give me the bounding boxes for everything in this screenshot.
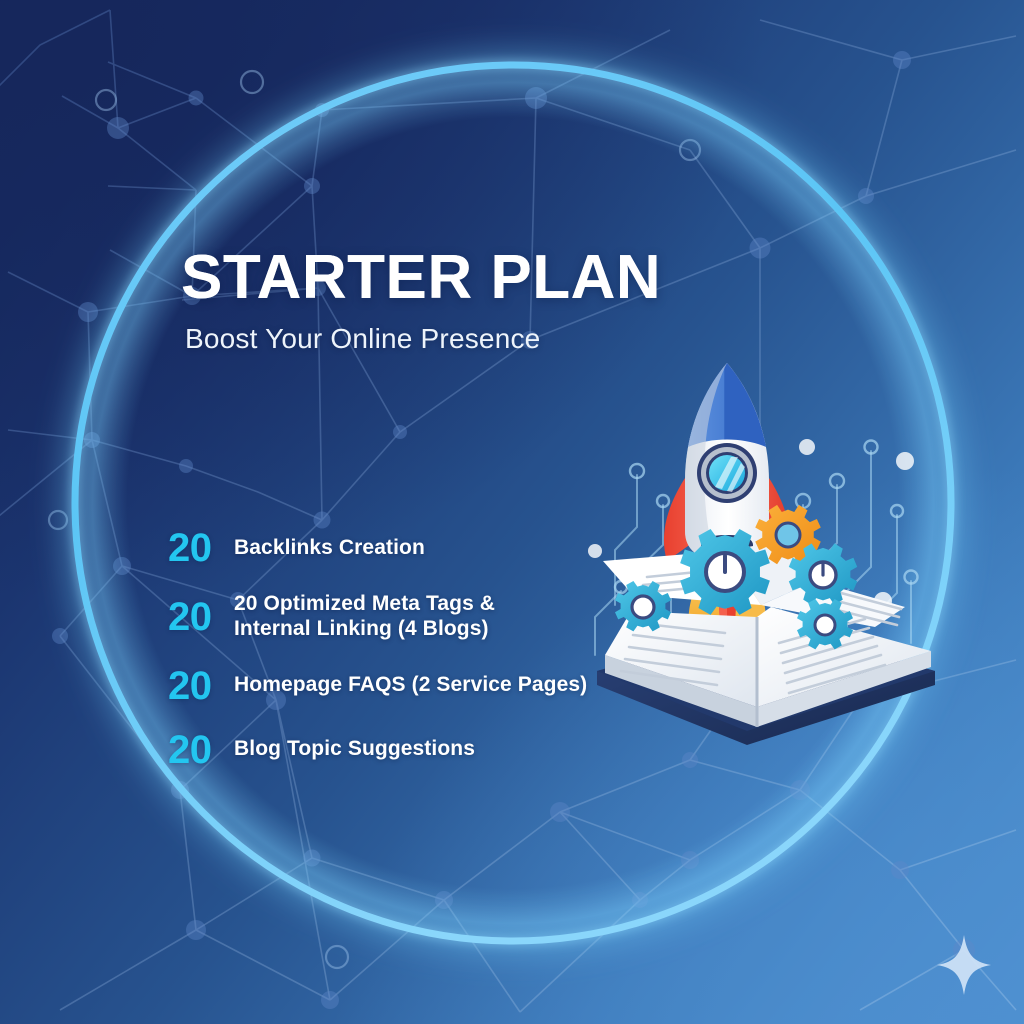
feature-count: 20: [168, 666, 234, 706]
feature-count: 20: [168, 528, 234, 568]
feature-label-line1: Backlinks Creation: [234, 536, 425, 559]
feature-label: Homepage FAQS (2 Service Pages): [234, 673, 587, 698]
page-title: STARTER PLAN: [181, 247, 661, 309]
feature-label-line1: Blog Topic Suggestions: [234, 737, 475, 760]
sparkle-star-icon: [936, 934, 992, 996]
feature-count: 20: [168, 730, 234, 770]
feature-count: 20: [168, 597, 234, 637]
rocket-book-illustration: [575, 355, 945, 775]
feature-label-line1: Homepage FAQS (2 Service Pages): [234, 673, 587, 696]
feature-label: Blog Topic Suggestions: [234, 737, 475, 762]
feature-label: 20 Optimized Meta Tags & Internal Linkin…: [234, 592, 495, 642]
feature-label-line1: 20 Optimized Meta Tags &: [234, 592, 495, 615]
rocket-porthole: [697, 443, 757, 503]
feature-label-line2: Internal Linking (4 Blogs): [234, 617, 495, 642]
page-subtitle: Boost Your Online Presence: [185, 323, 540, 355]
feature-label: Backlinks Creation: [234, 536, 425, 561]
pricing-plan-poster: STARTER PLAN Boost Your Online Presence …: [0, 0, 1024, 1024]
open-book: [597, 541, 935, 745]
